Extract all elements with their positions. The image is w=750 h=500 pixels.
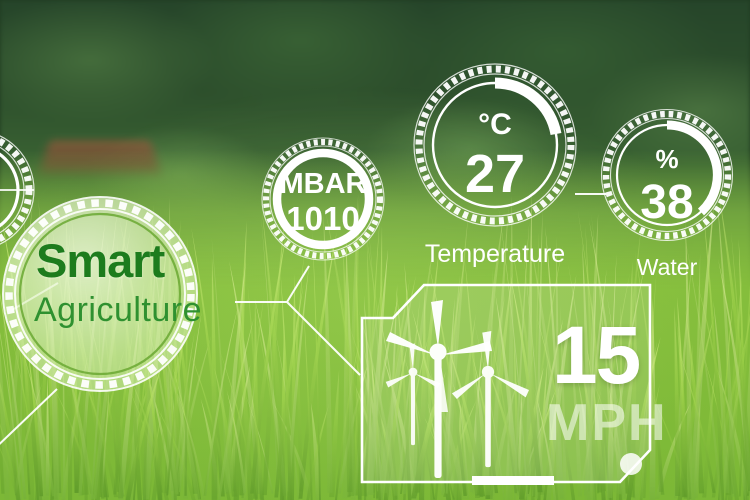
status-dot: [620, 453, 642, 475]
gauge-temperature-value: 27: [465, 144, 525, 204]
gauge-water-unit: %: [655, 144, 678, 174]
gauge-temperature-ring: °C 27 Temperature: [412, 62, 578, 274]
wind-speed-unit: MPH: [546, 396, 668, 450]
gauge-temperature[interactable]: °C 27 Temperature: [412, 62, 578, 274]
wind-speed-value: 15: [552, 314, 639, 398]
wind-panel[interactable]: 15 MPH: [352, 278, 658, 492]
gauge-water-caption: Water: [637, 254, 698, 280]
gauge-temperature-caption: Temperature: [425, 240, 565, 268]
gauge-pressure-ring: MBAR 1010: [259, 135, 387, 263]
gauge-pressure[interactable]: MBAR 1010: [259, 135, 387, 263]
gauge-pressure-unit: MBAR: [280, 168, 367, 200]
gauge-pressure-value: 1010: [286, 200, 359, 237]
smart-agriculture-badge[interactable]: Smart Agriculture: [0, 188, 240, 400]
gauge-temperature-unit: °C: [478, 108, 512, 141]
smart-agriculture-dashboard: Smart Agriculture MBAR 1010: [0, 0, 750, 500]
brand-subtitle: Agriculture: [34, 291, 202, 329]
gauge-water-ring: % 38 Water: [604, 112, 750, 284]
brand-title: Smart: [36, 236, 164, 286]
gauge-water[interactable]: % 38 Water: [604, 112, 750, 284]
bottom-indicator-bar: [472, 476, 554, 485]
gauge-water-value: 38: [640, 176, 693, 229]
